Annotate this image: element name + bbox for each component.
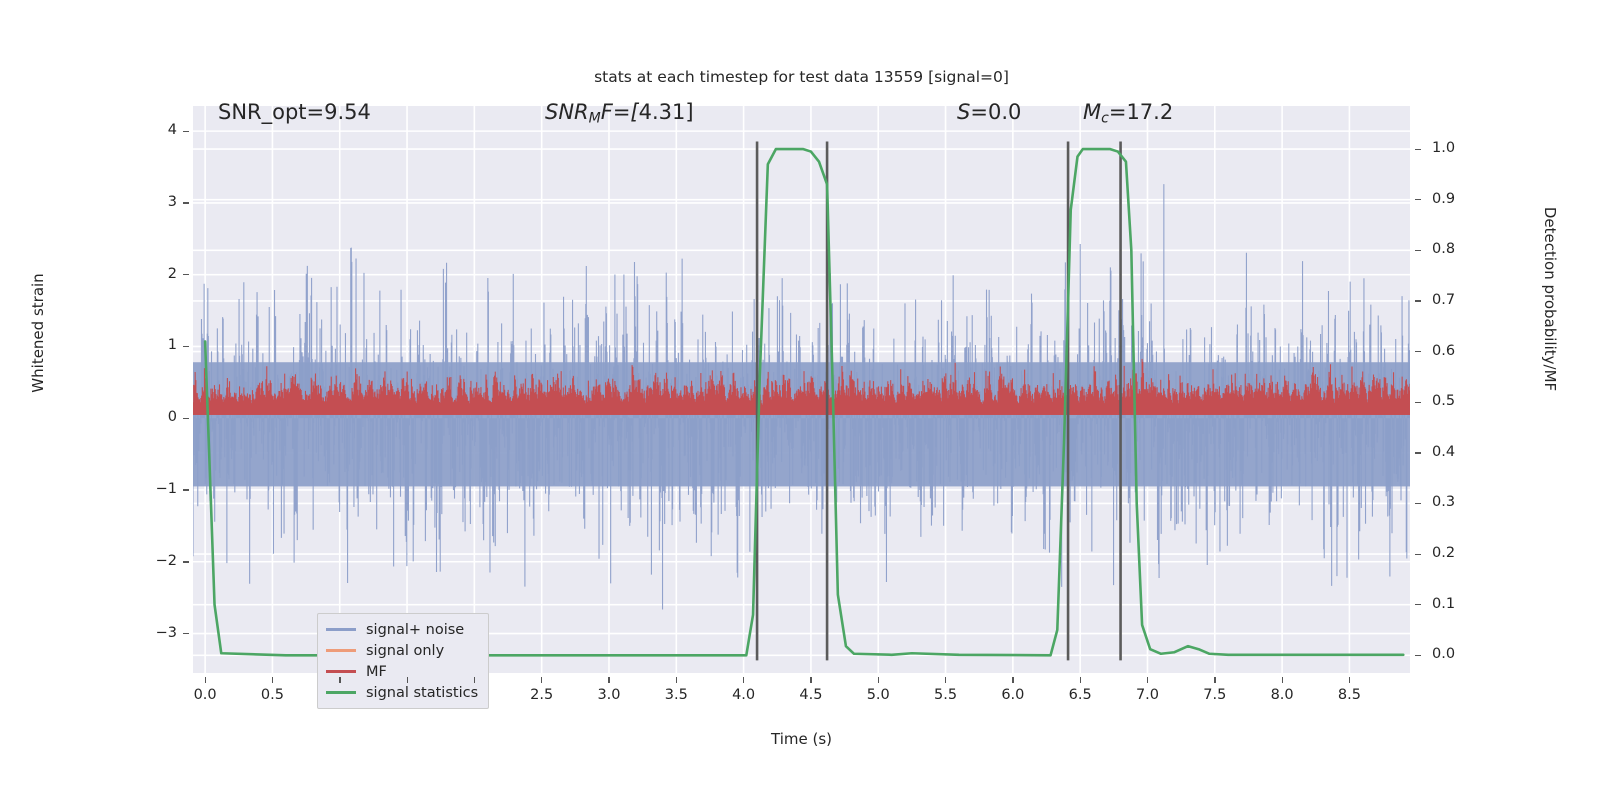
legend-label-0: signal+ noise (366, 622, 464, 638)
x-tick-8: 4.0 (714, 687, 774, 703)
y-tick-right-2: 0.8 (1432, 241, 1480, 257)
y-tick-left-7: −3 (137, 625, 177, 641)
annotation-chirp-mass: Mc=17.2 (1083, 100, 1173, 127)
y-tickmark-left-3 (183, 346, 189, 347)
y-tick-right-8: 0.2 (1432, 545, 1480, 561)
y-tick-left-6: −2 (137, 553, 177, 569)
y-tickmark-right-3 (1415, 300, 1421, 301)
y-tickmark-left-4 (183, 418, 189, 419)
y-tick-right-6: 0.4 (1432, 444, 1480, 460)
x-tickmark-4 (474, 677, 475, 683)
y-tick-right-5: 0.5 (1432, 393, 1480, 409)
legend-swatch-icon-2 (326, 670, 356, 673)
annotation-snr-mf: SNRMF=[4.31] (545, 100, 694, 127)
annotation-s-mid: = (970, 100, 988, 124)
legend-item-3[interactable]: signal statistics (326, 682, 478, 703)
y-tick-left-2: 2 (137, 266, 177, 282)
annotation-s-prefix: S (957, 100, 970, 124)
x-tickmark-16 (1282, 677, 1283, 683)
x-tick-11: 5.5 (916, 687, 976, 703)
y-tick-right-4: 0.6 (1432, 343, 1480, 359)
y-tickmark-right-10 (1415, 655, 1421, 656)
y-tick-left-3: 1 (137, 337, 177, 353)
y-tick-right-10: 0.0 (1432, 646, 1480, 662)
x-tickmark-14 (1147, 677, 1148, 683)
x-tickmark-1 (272, 677, 273, 683)
y-tick-left-4: 0 (137, 409, 177, 425)
x-tickmark-5 (541, 677, 542, 683)
x-tickmark-8 (743, 677, 744, 683)
y-tickmark-right-0 (1415, 149, 1421, 150)
annotation-snr-mf-mid: F=[ (601, 100, 639, 124)
y-tick-right-3: 0.7 (1432, 292, 1480, 308)
x-tick-15: 7.5 (1185, 687, 1245, 703)
y-tickmark-right-8 (1415, 554, 1421, 555)
annotation-snr-mf-prefix: SNR (545, 100, 589, 124)
y-tickmark-left-6 (183, 561, 189, 562)
figure: stats at each timestep for test data 135… (0, 0, 1600, 800)
y-tickmark-left-1 (183, 202, 189, 203)
x-tickmark-17 (1349, 677, 1350, 683)
x-tickmark-15 (1214, 677, 1215, 683)
x-tick-10: 5.0 (848, 687, 908, 703)
y-tick-right-0: 1.0 (1432, 140, 1480, 156)
y-axis-left-label: Whitened strain (29, 233, 47, 433)
y-tick-left-1: 3 (137, 194, 177, 210)
x-tickmark-9 (810, 677, 811, 683)
annotation-chirp-mass-mid: = (1109, 100, 1127, 124)
annotation-s-value: 0.0 (988, 100, 1021, 124)
y-tickmark-right-7 (1415, 503, 1421, 504)
legend-swatch-icon-3 (326, 691, 356, 694)
annotation-chirp-mass-value: 17.2 (1126, 100, 1173, 124)
x-tick-7: 3.5 (646, 687, 706, 703)
x-tick-1: 0.5 (242, 687, 302, 703)
x-tickmark-7 (676, 677, 677, 683)
x-tickmark-6 (608, 677, 609, 683)
annotation-snr-mf-value: 4.31 (639, 100, 686, 124)
annotation-snr-opt-label: SNR_opt= (218, 100, 324, 124)
y-axis-right-label: Detection probability/MF (1541, 169, 1559, 429)
y-tickmark-left-7 (183, 633, 189, 634)
plot-canvas (193, 106, 1410, 673)
y-tick-left-0: 4 (137, 122, 177, 138)
x-tickmark-0 (205, 677, 206, 683)
y-tick-right-7: 0.3 (1432, 494, 1480, 510)
y-tickmark-right-1 (1415, 199, 1421, 200)
y-tickmark-left-0 (183, 131, 189, 132)
x-tick-16: 8.0 (1252, 687, 1312, 703)
x-tick-12: 6.0 (983, 687, 1043, 703)
x-tick-0: 0.0 (175, 687, 235, 703)
x-tick-5: 2.5 (512, 687, 572, 703)
y-tick-right-9: 0.1 (1432, 596, 1480, 612)
y-tickmark-right-2 (1415, 250, 1421, 251)
x-tick-13: 6.5 (1050, 687, 1110, 703)
y-tickmark-left-2 (183, 274, 189, 275)
x-tickmark-11 (945, 677, 946, 683)
legend-label-1: signal only (366, 643, 444, 659)
legend[interactable]: signal+ noisesignal onlyMFsignal statist… (317, 613, 489, 709)
legend-label-3: signal statistics (366, 685, 478, 701)
annotation-snr-mf-suffix: ] (685, 100, 693, 124)
x-tick-17: 8.5 (1319, 687, 1379, 703)
y-tickmark-right-9 (1415, 604, 1421, 605)
x-axis-label: Time (s) (193, 730, 1410, 748)
plot-area (193, 106, 1410, 673)
x-tickmark-3 (407, 677, 408, 683)
x-tickmark-13 (1080, 677, 1081, 683)
annotation-snr-mf-subscript: M (589, 111, 601, 127)
annotation-s: S=0.0 (957, 100, 1021, 124)
y-tick-right-1: 0.9 (1432, 191, 1480, 207)
y-tickmark-left-5 (183, 489, 189, 490)
y-tickmark-right-4 (1415, 351, 1421, 352)
annotation-snr-opt-value: 9.54 (324, 100, 371, 124)
annotation-snr-opt: SNR_opt=9.54 (218, 100, 371, 124)
annotation-chirp-mass-prefix: M (1083, 100, 1101, 124)
legend-item-0[interactable]: signal+ noise (326, 619, 478, 640)
legend-label-2: MF (366, 664, 387, 680)
x-tick-14: 7.0 (1117, 687, 1177, 703)
legend-item-2[interactable]: MF (326, 661, 478, 682)
x-tickmark-2 (339, 677, 340, 683)
legend-swatch-icon-1 (326, 649, 356, 652)
legend-item-1[interactable]: signal only (326, 640, 478, 661)
x-tick-9: 4.5 (781, 687, 841, 703)
x-tickmark-10 (878, 677, 879, 683)
y-tickmark-right-5 (1415, 402, 1421, 403)
x-tickmark-12 (1012, 677, 1013, 683)
page-title: stats at each timestep for test data 135… (193, 68, 1410, 86)
legend-swatch-icon-0 (326, 628, 356, 631)
y-tick-left-5: −1 (137, 481, 177, 497)
annotation-chirp-mass-subscript: c (1101, 111, 1109, 127)
x-tick-6: 3.0 (579, 687, 639, 703)
y-tickmark-right-6 (1415, 452, 1421, 453)
